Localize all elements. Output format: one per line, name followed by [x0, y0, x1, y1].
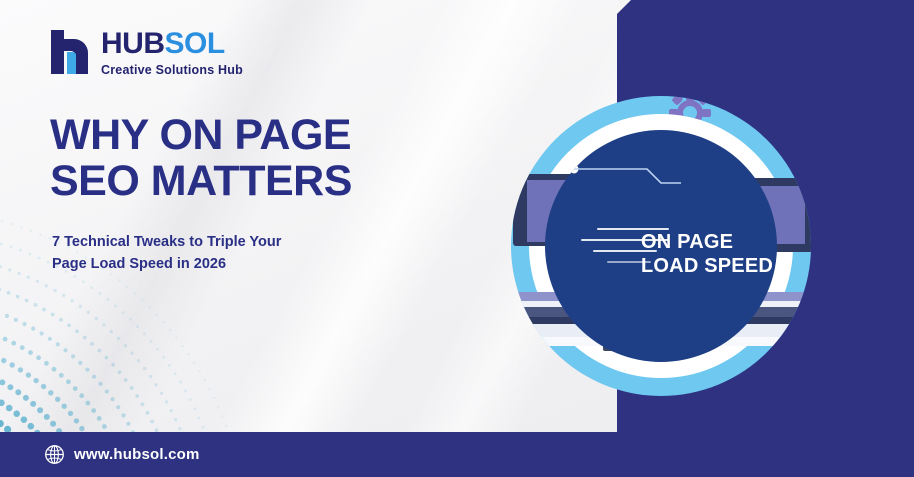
footer-url-text: www.hubsol.com — [74, 446, 200, 463]
inner-circle: ON PAGE LOAD SPEED — [545, 130, 777, 362]
illustration-graphic: ON PAGE LOAD SPEED — [511, 96, 811, 396]
banner-canvas: HUBSOL Creative Solutions Hub WHY ON PAG… — [0, 0, 914, 477]
globe-icon — [44, 444, 65, 465]
subhead-line-2: Page Load Speed in 2026 — [52, 254, 362, 276]
hubsol-logo-mark-icon — [48, 26, 94, 78]
outer-ring: ON PAGE LOAD SPEED — [511, 96, 811, 396]
brand-name-part2: SOL — [165, 27, 225, 60]
brand-wordmark: HUBSOL — [101, 29, 243, 59]
page-subtitle: 7 Technical Tweaks to Triple Your Page L… — [52, 232, 362, 276]
illustration-label: ON PAGE LOAD SPEED — [641, 230, 777, 279]
headline-line-1: WHY ON PAGE — [50, 111, 351, 159]
page-title: WHY ON PAGE SEO MATTERS — [50, 112, 490, 205]
headline-line-2: SEO MATTERS — [50, 158, 490, 204]
brand-logo[interactable]: HUBSOL Creative Solutions Hub — [48, 26, 243, 78]
illustration-label-line-2: LOAD SPEED — [641, 254, 777, 278]
footer-bar: www.hubsol.com — [0, 432, 914, 477]
subhead-line-1: 7 Technical Tweaks to Triple Your — [52, 234, 281, 250]
brand-tagline: Creative Solutions Hub — [101, 64, 243, 77]
footer-website[interactable]: www.hubsol.com — [44, 444, 200, 465]
circuit-trace-icon — [569, 164, 689, 196]
brand-name-part1: HUB — [101, 27, 165, 60]
illustration-label-line-1: ON PAGE — [641, 231, 733, 253]
